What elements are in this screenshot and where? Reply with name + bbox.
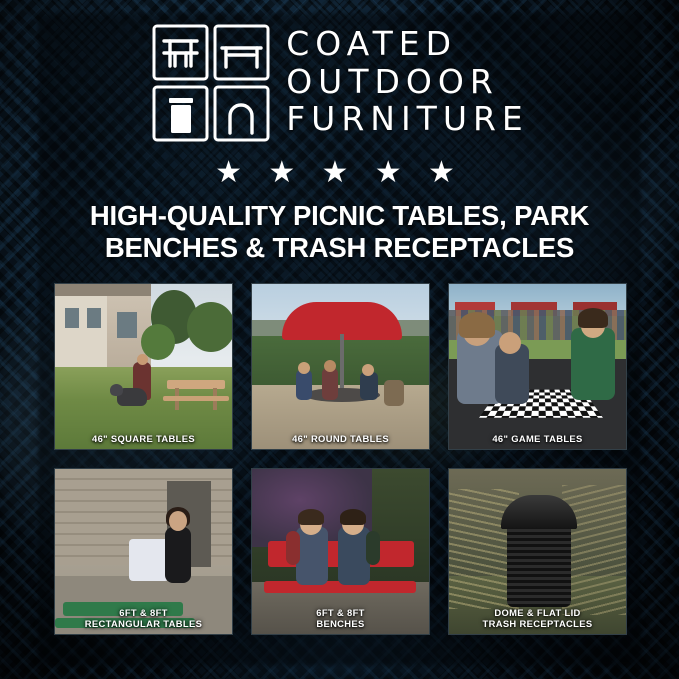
gallery-caption: 46" GAME TABLES (449, 430, 626, 449)
brand-name-line-3: FURNITURE (286, 101, 529, 137)
brand-name-line-1: COATED (286, 26, 529, 62)
gallery-item-game-tables[interactable]: 46" GAME TABLES (448, 283, 627, 450)
product-banner: COATED OUTDOOR FURNITURE ★ ★ ★ ★ ★ HIGH-… (0, 0, 679, 679)
photo-round-tables (252, 284, 429, 449)
gallery-caption: 46" ROUND TABLES (252, 430, 429, 449)
photo-square-tables (55, 284, 232, 449)
gallery-caption: 6FT & 8FT RECTANGULAR TABLES (55, 604, 232, 634)
gallery-caption: DOME & FLAT LID TRASH RECEPTACLES (449, 604, 626, 634)
product-gallery: 46" SQUARE TABLES (54, 283, 625, 633)
gallery-item-trash-receptacles[interactable]: DOME & FLAT LID TRASH RECEPTACLES (448, 468, 627, 635)
headline-line-2: BENCHES & TRASH RECEPTACLES (40, 232, 639, 264)
photo-game-tables (449, 284, 626, 449)
gallery-caption: 46" SQUARE TABLES (55, 430, 232, 449)
brand-name-line-2: OUTDOOR (286, 64, 529, 100)
gallery-item-square-tables[interactable]: 46" SQUARE TABLES (54, 283, 233, 450)
gallery-item-rectangular-tables[interactable]: 6FT & 8FT RECTANGULAR TABLES (54, 468, 233, 635)
logo-mark-icon (150, 22, 272, 144)
brand-logo: COATED OUTDOOR FURNITURE (0, 22, 679, 144)
headline-line-1: HIGH-QUALITY PICNIC TABLES, PARK (40, 200, 639, 232)
brand-wordmark: COATED OUTDOOR FURNITURE (286, 22, 529, 137)
gallery-item-round-tables[interactable]: 46" ROUND TABLES (251, 283, 430, 450)
star-rating: ★ ★ ★ ★ ★ (0, 158, 679, 188)
gallery-item-benches[interactable]: 6FT & 8FT BENCHES (251, 468, 430, 635)
gallery-caption: 6FT & 8FT BENCHES (252, 604, 429, 634)
headline: HIGH-QUALITY PICNIC TABLES, PARK BENCHES… (40, 200, 639, 264)
